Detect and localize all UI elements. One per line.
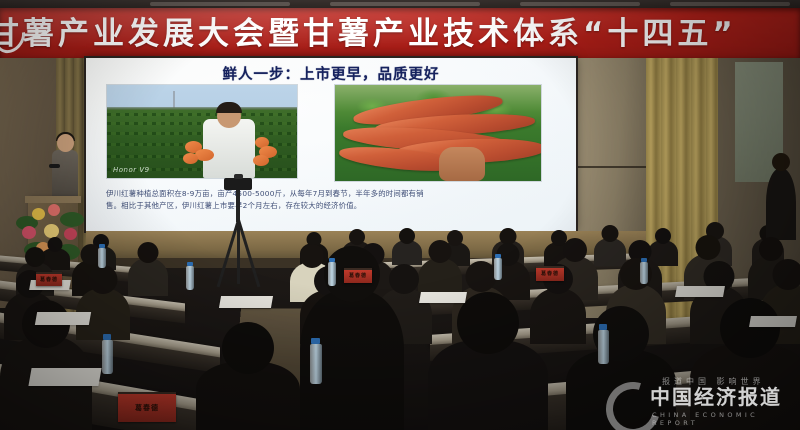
water-bottle (310, 344, 322, 384)
audience-member (392, 240, 422, 265)
microphone-icon (49, 164, 60, 168)
water-bottle (640, 262, 648, 284)
water-bottle (98, 248, 106, 268)
banner-bracket-icon (0, 15, 31, 58)
presenter-head (57, 134, 74, 152)
video-camera-icon (224, 178, 252, 190)
water-bottle (186, 266, 194, 290)
document-paper (675, 286, 725, 297)
audience-member (530, 288, 586, 344)
conference-banner: 甘薯产业发展大会暨甘薯产业技术体系“十四五” (0, 8, 800, 58)
name-placard: 葛春德 (344, 268, 372, 283)
screenshot-root: 甘薯产业发展大会暨甘薯产业技术体系“十四五” 鲜人一步：上市更早，品质更好 Ho… (0, 0, 800, 430)
banner-title: 甘薯产业发展大会暨甘薯产业技术体系“十四五” (0, 13, 800, 55)
name-placard: 葛春德 (118, 392, 176, 422)
audience-member (128, 258, 168, 296)
document-paper (35, 312, 91, 325)
document-paper (28, 368, 101, 386)
audience-member (594, 238, 626, 266)
water-bottle (328, 262, 336, 286)
watermark-subtitle: CHINA ECONOMIC REPORT (652, 411, 794, 427)
audience-member-foreground (428, 340, 548, 430)
name-placard: 葛春德 (536, 266, 564, 281)
document-paper (749, 316, 797, 327)
name-placard: 葛春德 (36, 272, 62, 286)
water-bottle (494, 258, 502, 280)
water-bottle (598, 330, 609, 364)
document-paper (219, 296, 273, 308)
standing-camera-operator (766, 168, 796, 240)
water-bottle (102, 340, 113, 374)
watermark: 报道中国 影响世界 中国经济报道 CHINA ECONOMIC REPORT (604, 378, 794, 424)
screen-frame (84, 56, 578, 233)
video-camera-tripod (216, 178, 260, 290)
audience-member-foreground (196, 362, 300, 430)
document-paper (419, 292, 467, 303)
watermark-title: 中国经济报道 (650, 386, 782, 408)
